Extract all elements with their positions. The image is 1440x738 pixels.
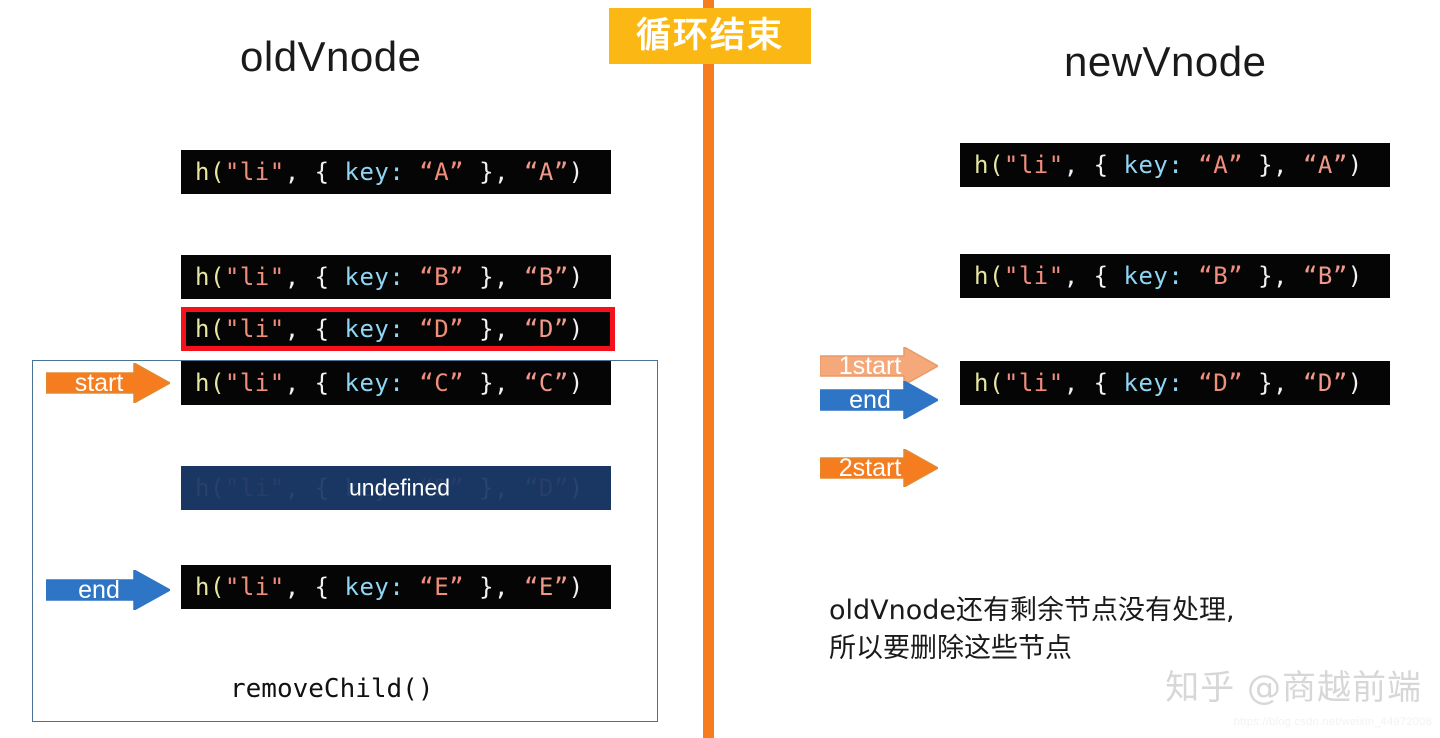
code-token-comma: , bbox=[1064, 262, 1094, 290]
code-token-tag: "li" bbox=[225, 369, 285, 397]
code-token-brace-close: } bbox=[464, 263, 494, 291]
code-text: h("li", { key: “D” }, “D”) bbox=[195, 315, 584, 343]
code-text: h("li", { key: “B” }, “B”) bbox=[195, 263, 584, 291]
arrow-right-icon bbox=[820, 449, 938, 487]
code-token-space bbox=[1183, 262, 1198, 290]
code-token-paren-close: ) bbox=[569, 158, 584, 186]
code-token-paren-close: ) bbox=[1348, 369, 1363, 397]
code-token-key: key: bbox=[345, 315, 405, 343]
code-token-fn: h( bbox=[195, 263, 225, 291]
code-token-fn: h( bbox=[195, 573, 225, 601]
code-token-tag: "li" bbox=[225, 158, 285, 186]
code-token-child: “D” bbox=[1303, 369, 1348, 397]
code-token-comma: , bbox=[285, 573, 315, 601]
old-node-e[interactable]: h("li", { key: “E” }, “E”) bbox=[181, 565, 611, 609]
remove-region-box bbox=[32, 360, 658, 722]
new-node-b[interactable]: h("li", { key: “B” }, “B”) bbox=[960, 254, 1390, 298]
code-token-fn: h( bbox=[195, 474, 225, 502]
code-token-comma2: , bbox=[494, 158, 524, 186]
code-token-space bbox=[1183, 151, 1198, 179]
code-token-comma2: , bbox=[494, 573, 524, 601]
code-token-fn: h( bbox=[974, 151, 1004, 179]
code-token-comma2: , bbox=[494, 315, 524, 343]
code-token-fn: h( bbox=[195, 369, 225, 397]
code-text: h("li", { key: “B” }, “B”) bbox=[974, 262, 1363, 290]
code-token-space bbox=[1183, 369, 1198, 397]
code-token-tag: "li" bbox=[1004, 262, 1064, 290]
code-token-comma2: , bbox=[1273, 262, 1303, 290]
code-token-tag: "li" bbox=[225, 474, 285, 502]
old-node-d-highlighted[interactable]: h("li", { key: “D” }, “D”) bbox=[181, 307, 615, 351]
arrow-right-icon bbox=[820, 381, 938, 419]
code-token-fn: h( bbox=[195, 158, 225, 186]
code-token-comma2: , bbox=[494, 474, 524, 502]
code-token-brace-open: { bbox=[315, 263, 345, 291]
column-title-oldvnode: oldVnode bbox=[240, 33, 422, 81]
code-token-brace-open: { bbox=[315, 369, 345, 397]
code-token-child: “D” bbox=[524, 474, 569, 502]
code-token-key: key: bbox=[1124, 262, 1184, 290]
old-node-b[interactable]: h("li", { key: “B” }, “B”) bbox=[181, 255, 611, 299]
code-text: h("li", { key: “D” }, “D”) bbox=[974, 369, 1363, 397]
code-token-space bbox=[404, 158, 419, 186]
code-token-tag: "li" bbox=[225, 315, 285, 343]
code-token-key-value: “B” bbox=[419, 263, 464, 291]
code-token-paren-close: ) bbox=[569, 369, 584, 397]
code-token-child: “C” bbox=[524, 369, 569, 397]
code-token-space bbox=[404, 263, 419, 291]
arrow-right-icon bbox=[820, 347, 938, 385]
code-token-key: key: bbox=[345, 263, 405, 291]
code-text: h("li", { key: “E” }, “E”) bbox=[195, 573, 584, 601]
pointer-arrow-new-end[interactable]: end bbox=[820, 381, 938, 419]
code-token-space bbox=[404, 573, 419, 601]
code-token-key-value: “C” bbox=[419, 369, 464, 397]
code-token-brace-open: { bbox=[315, 315, 345, 343]
code-token-key-value: “D” bbox=[419, 315, 464, 343]
code-token-key-value: “A” bbox=[419, 158, 464, 186]
code-token-paren-close: ) bbox=[569, 315, 584, 343]
undefined-label: undefined bbox=[349, 475, 450, 502]
code-token-key: key: bbox=[1124, 369, 1184, 397]
code-token-key-value: “A” bbox=[1198, 151, 1243, 179]
code-token-brace-close: } bbox=[1243, 369, 1273, 397]
new-node-a[interactable]: h("li", { key: “A” }, “A”) bbox=[960, 143, 1390, 187]
code-token-paren-close: ) bbox=[1348, 262, 1363, 290]
code-text: h("li", { key: “C” }, “C”) bbox=[195, 369, 584, 397]
center-divider bbox=[703, 0, 714, 738]
code-token-key: key: bbox=[1124, 151, 1184, 179]
code-token-brace-close: } bbox=[464, 474, 494, 502]
code-token-space bbox=[404, 315, 419, 343]
code-token-comma2: , bbox=[494, 263, 524, 291]
pointer-arrow-new-start-1[interactable]: 1start bbox=[820, 347, 938, 385]
code-token-brace-open: { bbox=[1094, 369, 1124, 397]
code-token-comma2: , bbox=[494, 369, 524, 397]
code-token-comma2: , bbox=[1273, 151, 1303, 179]
code-token-brace-close: } bbox=[464, 158, 494, 186]
arrow-right-icon bbox=[46, 363, 170, 403]
code-token-tag: "li" bbox=[225, 573, 285, 601]
code-token-space bbox=[404, 369, 419, 397]
code-token-brace-close: } bbox=[1243, 151, 1273, 179]
code-token-key: key: bbox=[345, 158, 405, 186]
loop-end-banner-label: 循环结束 bbox=[636, 19, 784, 54]
code-token-fn: h( bbox=[195, 315, 225, 343]
code-token-key: key: bbox=[345, 573, 405, 601]
old-node-a[interactable]: h("li", { key: “A” }, “A”) bbox=[181, 150, 611, 194]
code-token-comma: , bbox=[285, 263, 315, 291]
code-token-child: “B” bbox=[524, 263, 569, 291]
code-token-brace-open: { bbox=[315, 573, 345, 601]
code-token-child: “E” bbox=[524, 573, 569, 601]
loop-end-banner: 循环结束 bbox=[609, 8, 811, 64]
pointer-arrow-new-start-2[interactable]: 2start bbox=[820, 449, 938, 487]
code-token-comma: , bbox=[285, 158, 315, 186]
code-token-tag: "li" bbox=[225, 263, 285, 291]
code-token-key-value: “D” bbox=[1198, 369, 1243, 397]
code-token-key-value: “B” bbox=[1198, 262, 1243, 290]
annotation-text: oldVnode还有剩余节点没有处理, 所以要删除这些节点 bbox=[829, 592, 1235, 669]
code-token-child: “A” bbox=[524, 158, 569, 186]
pointer-arrow-old-start[interactable]: start bbox=[46, 363, 170, 403]
old-node-c[interactable]: h("li", { key: “C” }, “C”) bbox=[181, 361, 611, 405]
code-token-comma2: , bbox=[1273, 369, 1303, 397]
source-url-watermark: https://blog.csdn.net/weixin_44972008 bbox=[1234, 716, 1432, 728]
remove-child-label: removeChild() bbox=[230, 674, 434, 704]
code-token-fn: h( bbox=[974, 262, 1004, 290]
code-token-brace-close: } bbox=[464, 369, 494, 397]
code-token-paren-close: ) bbox=[569, 474, 584, 502]
code-token-fn: h( bbox=[974, 369, 1004, 397]
code-token-brace-close: } bbox=[464, 573, 494, 601]
code-token-paren-close: ) bbox=[569, 263, 584, 291]
code-token-key-value: “E” bbox=[419, 573, 464, 601]
code-token-comma: , bbox=[1064, 369, 1094, 397]
code-token-comma: , bbox=[285, 315, 315, 343]
code-token-brace-open: { bbox=[1094, 151, 1124, 179]
pointer-arrow-old-end[interactable]: end bbox=[46, 570, 170, 610]
code-text: h("li", { key: “A” }, “A”) bbox=[195, 158, 584, 186]
watermark: 知乎 @商越前端 bbox=[1165, 660, 1422, 709]
code-token-brace-close: } bbox=[464, 315, 494, 343]
code-token-child: “B” bbox=[1303, 262, 1348, 290]
new-node-d[interactable]: h("li", { key: “D” }, “D”) bbox=[960, 361, 1390, 405]
code-token-brace-open: { bbox=[315, 474, 345, 502]
arrow-right-icon bbox=[46, 570, 170, 610]
code-token-comma: , bbox=[285, 369, 315, 397]
code-token-key: key: bbox=[345, 369, 405, 397]
code-token-brace-open: { bbox=[1094, 262, 1124, 290]
old-node-d-undefined[interactable]: h("li", { key: “D” }, “D”) undefined bbox=[181, 466, 611, 510]
code-token-child: “A” bbox=[1303, 151, 1348, 179]
code-token-tag: "li" bbox=[1004, 151, 1064, 179]
code-token-comma: , bbox=[285, 474, 315, 502]
code-token-brace-close: } bbox=[1243, 262, 1273, 290]
code-token-child: “D” bbox=[524, 315, 569, 343]
code-token-brace-open: { bbox=[315, 158, 345, 186]
code-token-comma: , bbox=[1064, 151, 1094, 179]
code-text: h("li", { key: “A” }, “A”) bbox=[974, 151, 1363, 179]
code-token-tag: "li" bbox=[1004, 369, 1064, 397]
column-title-newvnode: newVnode bbox=[1064, 38, 1267, 86]
code-token-paren-close: ) bbox=[569, 573, 584, 601]
code-token-paren-close: ) bbox=[1348, 151, 1363, 179]
